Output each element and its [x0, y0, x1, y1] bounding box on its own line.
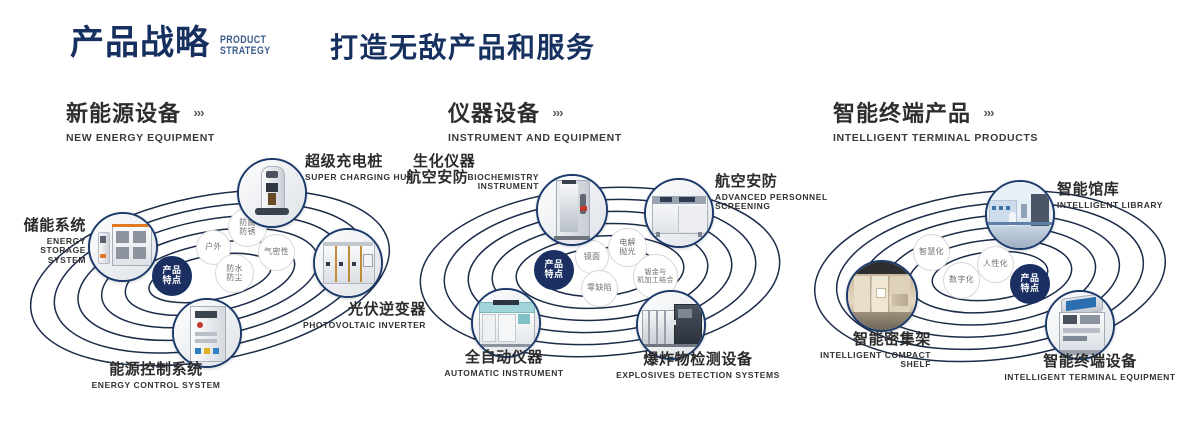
cluster-new-energy: 产品 特点 户外 防腐 防锈 防水 防尘 气密性 [0, 150, 420, 400]
section-title-en: INTELLIGENT TERMINAL PRODUCTS [833, 132, 1038, 144]
page-title-english: PRODUCT STRATEGY [220, 35, 270, 58]
product-strategy-infographic: 产品战略 PRODUCT STRATEGY 打造无敌产品和服务 新能源设备 ››… [0, 0, 1200, 422]
control-cabinet-icon [174, 300, 240, 366]
section-heading-intelligent-terminal: 智能终端产品 ››› INTELLIGENT TERMINAL PRODUCTS [833, 96, 1038, 144]
node-photovoltaic-inverter[interactable] [313, 228, 383, 298]
page-header: 产品战略 PRODUCT STRATEGY [70, 26, 283, 60]
section-heading-instrument: 仪器设备 ››› INSTRUMENT AND EQUIPMENT [448, 96, 622, 144]
node-automatic-instrument[interactable] [471, 288, 541, 358]
node-biochemistry-instrument[interactable] [536, 174, 608, 246]
library-room-icon [987, 182, 1053, 248]
node-intelligent-library[interactable] [985, 180, 1055, 250]
center-bubble-product-features: 产品 特点 [534, 250, 574, 290]
headline: 打造无敌产品和服务 [330, 34, 596, 62]
node-intelligent-compact-shelf[interactable] [846, 260, 918, 332]
compact-shelf-icon [848, 262, 916, 330]
node-energy-control-system[interactable] [172, 298, 242, 368]
section-title-cn: 智能终端产品 [833, 96, 971, 128]
scanner-gate-icon [538, 176, 606, 244]
caption-aviation-security: 航空安防 [406, 170, 468, 187]
caption-explosives-detection-systems: 爆炸物检测设备 EXPLOSIVES DETECTION SYSTEMS [585, 352, 811, 380]
feature-bubble-humanization: 人性化 [977, 246, 1014, 283]
page-title: 产品战略 [70, 26, 210, 60]
screening-machine-icon [646, 180, 712, 246]
section-title-cn: 仪器设备 [448, 96, 540, 128]
caption-intelligent-terminal-equipment: 智能终端设备 INTELLIGENT TERMINAL EQUIPMENT [980, 354, 1200, 382]
section-title-en: NEW ENERGY EQUIPMENT [66, 132, 215, 144]
section-title-cn: 新能源设备 [66, 96, 181, 128]
center-bubble-product-features: 产品 特点 [152, 256, 192, 296]
cluster-intelligent-terminal: 智慧化 数字化 人性化 产品 特点 [795, 150, 1200, 400]
kiosk-terminal-icon [1047, 292, 1113, 358]
feature-bubble-digitalization: 数字化 [943, 262, 980, 299]
section-title-en: INSTRUMENT AND EQUIPMENT [448, 132, 622, 144]
cabinet-pair-icon [90, 214, 156, 280]
caption-intelligent-compact-shelf: 智能密集架 INTELLIGENT COMPACT SHELF [795, 332, 931, 370]
detection-unit-icon [638, 292, 704, 358]
inverter-rack-icon [315, 230, 381, 296]
feature-bubble-airtightness: 气密性 [258, 234, 295, 271]
feature-bubble-zero-defect: 零缺陷 [581, 270, 618, 307]
charging-pile-icon [239, 160, 305, 226]
chevrons-icon: ››› [983, 105, 993, 120]
section-heading-new-energy: 新能源设备 ››› NEW ENERGY EQUIPMENT [66, 96, 215, 144]
node-advanced-personnel-screening[interactable] [644, 178, 714, 248]
feature-bubble-waterproof-dustproof: 防水 防尘 [215, 254, 254, 293]
caption-automatic-instrument: 全自动仪器 AUTOMATIC INSTRUMENT [415, 350, 593, 378]
caption-energy-control-system: 能源控制系统 ENERGY CONTROL SYSTEM [60, 362, 252, 390]
chevrons-icon: ››› [193, 105, 203, 120]
caption-energy-storage-system: 储能系统 ENERGY STORAGE SYSTEM [0, 218, 86, 265]
feature-bubble-intelligentization: 智慧化 [913, 234, 950, 271]
chevrons-icon: ››› [552, 105, 562, 120]
cluster-instrument: 产品 特点 镜面 电解 抛光 零缺陷 钣金与 机加工结合 [395, 150, 815, 400]
auto-analyzer-icon [473, 290, 539, 356]
node-explosives-detection-systems[interactable] [636, 290, 706, 360]
caption-intelligent-library: 智能馆库 INTELLIGENT LIBRARY [1057, 182, 1197, 210]
node-super-charging-hub[interactable] [237, 158, 307, 228]
node-energy-storage-system[interactable] [88, 212, 158, 282]
node-intelligent-terminal-equipment[interactable] [1045, 290, 1115, 360]
center-bubble-product-features: 产品 特点 [1010, 264, 1050, 304]
feature-bubble-mirror-finish: 镜面 [575, 240, 609, 274]
